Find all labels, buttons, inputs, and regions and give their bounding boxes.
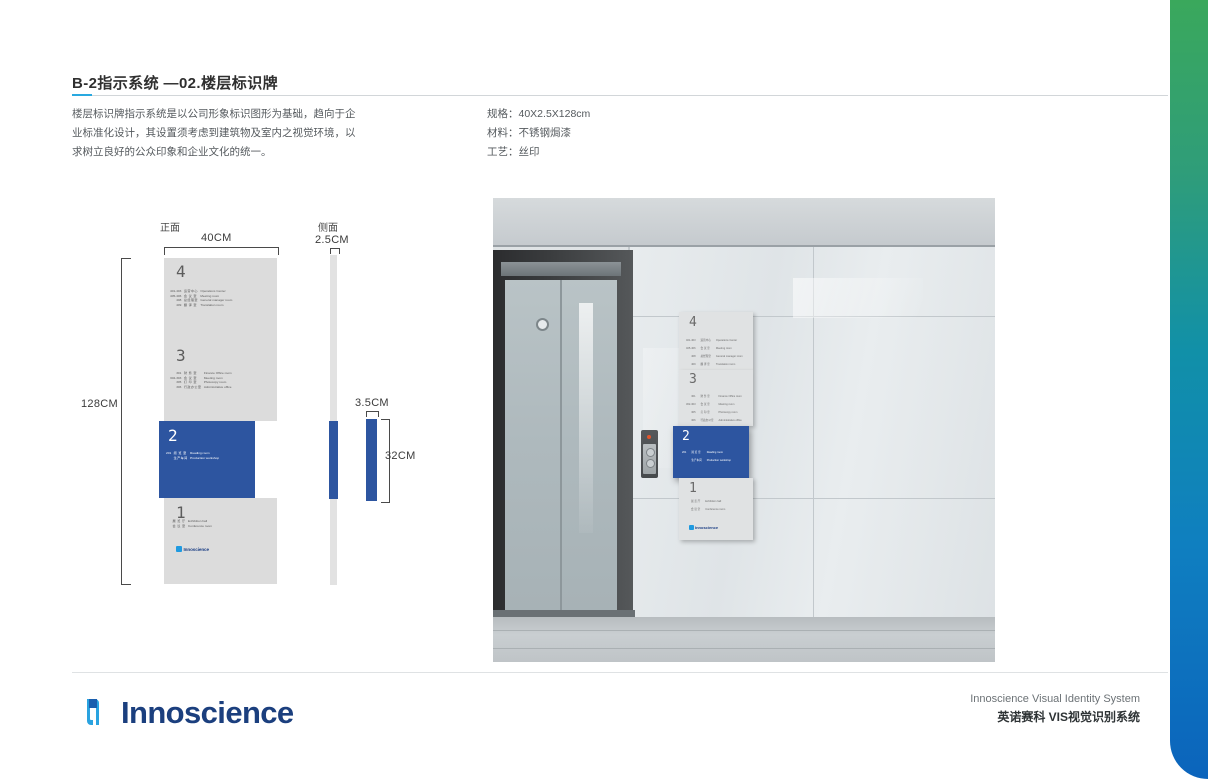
photo-floor xyxy=(493,617,995,662)
photo-floor-joint xyxy=(493,648,995,649)
detail-blue-profile xyxy=(366,419,377,501)
detail-width-bracket xyxy=(366,411,379,417)
side-width-bracket xyxy=(330,248,340,254)
room-list-floor-4: 401-403 运营中心 Operations Center 405-406 会… xyxy=(170,289,232,307)
photo-elevator-lintel xyxy=(501,262,621,276)
photo-sign-logo-text: Innoscience xyxy=(695,525,718,530)
room-row: 生产车间 Production workshop xyxy=(166,456,219,461)
footer-identity: Innoscience Visual Identity System 英诺赛科 … xyxy=(970,691,1140,726)
photo-room-list-3: 301财 务 室Finance Office room 302-303会 议 室… xyxy=(683,392,745,426)
photo-floor-number-3: 3 xyxy=(689,372,697,387)
photo-room-list-1: 展 览 厅Exhibition hall 会 议 室Conference roo… xyxy=(683,497,728,515)
room-list-floor-1: 展 览 厅 Exhibition hall 会 议 室 Conference r… xyxy=(170,519,212,528)
footer-divider xyxy=(72,672,1168,673)
photo-ceiling xyxy=(493,198,995,246)
spec-process: 工艺：丝印 xyxy=(487,143,590,162)
spec-list: 规格：40X2.5X128cm 材料：不锈钢焗漆 工艺：丝印 xyxy=(487,105,590,162)
room-row: 展 览 厅 Exhibition hall xyxy=(170,519,212,524)
room-row: 409 翻 译 室 Translation room xyxy=(170,303,232,308)
front-view-label: 正面 xyxy=(160,219,180,234)
floor-number-3: 3 xyxy=(176,346,186,365)
call-indicator-led-icon xyxy=(647,435,651,439)
detail-height-dimension: 32CM xyxy=(385,450,416,462)
photo-door-marker xyxy=(536,318,549,331)
call-button-up-icon xyxy=(646,448,655,457)
room-row: 306 行政办公室 Administrative office xyxy=(170,385,232,390)
height-bracket xyxy=(121,258,131,585)
spec-material: 材料：不锈钢焗漆 xyxy=(487,124,590,143)
room-row: 会 议 室 Conference room xyxy=(170,524,212,529)
width-bracket xyxy=(164,247,279,255)
height-dimension: 128CM xyxy=(81,398,118,410)
spec-size: 规格：40X2.5X128cm xyxy=(487,105,590,124)
photo-elevator-door-split xyxy=(560,280,562,610)
side-view-blue-section xyxy=(329,421,338,499)
side-width-dimension: 2.5CM xyxy=(315,234,349,246)
photo-room-list-4: 401-403运营中心Operations Center 405-406会 议 … xyxy=(683,336,746,370)
footer-line-en: Innoscience Visual Identity System xyxy=(970,691,1140,708)
side-view-profile xyxy=(330,255,337,585)
front-width-dimension: 40CM xyxy=(201,232,232,244)
photo-wall-glare xyxy=(793,278,923,318)
photo-room-list-2: 201阅 览 室Reading room 生产车间Production work… xyxy=(679,448,734,466)
photo-elevator-call-panel xyxy=(641,430,658,478)
innoscience-mark-icon xyxy=(176,546,182,552)
brand-logo: Innoscience xyxy=(75,694,294,730)
floor-number-2: 2 xyxy=(168,426,178,445)
detail-width-dimension: 3.5CM xyxy=(355,397,389,409)
sign-logo: Innoscience xyxy=(176,546,209,552)
room-list-floor-3: 301 财 务 室 Finance Office room 302-303 会 … xyxy=(170,371,232,389)
innoscience-logo-icon xyxy=(75,694,111,730)
vis-manual-page: B-2指示系统 —02.楼层标识牌 楼层标识牌指示系统是以公司形象标识图形为基础… xyxy=(0,0,1208,779)
application-photo: 4 401-403运营中心Operations Center 405-406会 … xyxy=(493,198,995,662)
edge-gradient-strip xyxy=(1170,0,1208,779)
photo-floor-joint xyxy=(493,630,995,631)
photo-floor-number-2: 2 xyxy=(682,429,690,444)
innoscience-mark-icon xyxy=(689,525,694,530)
technical-drawing: 正面 40CM 128CM 4 401-403 运营中心 Operations … xyxy=(0,0,470,640)
call-button-down-icon xyxy=(646,459,655,468)
floor-number-4: 4 xyxy=(176,262,186,281)
photo-door-glare xyxy=(579,303,593,533)
room-list-floor-2: 201 阅 览 室 Reading room 生产车间 Production w… xyxy=(166,451,219,460)
room-row: 401-403 运营中心 Operations Center xyxy=(170,289,232,294)
photo-sign-logo: Innoscience xyxy=(689,525,718,530)
photo-floor-number-1: 1 xyxy=(689,481,697,496)
footer-line-cn: 英诺赛科 VIS视觉识别系统 xyxy=(970,708,1140,726)
sign-logo-text: Innoscience xyxy=(184,547,209,552)
side-view-label: 侧面 xyxy=(318,219,338,234)
brand-logo-text: Innoscience xyxy=(121,697,294,728)
photo-floor-number-4: 4 xyxy=(689,315,697,330)
